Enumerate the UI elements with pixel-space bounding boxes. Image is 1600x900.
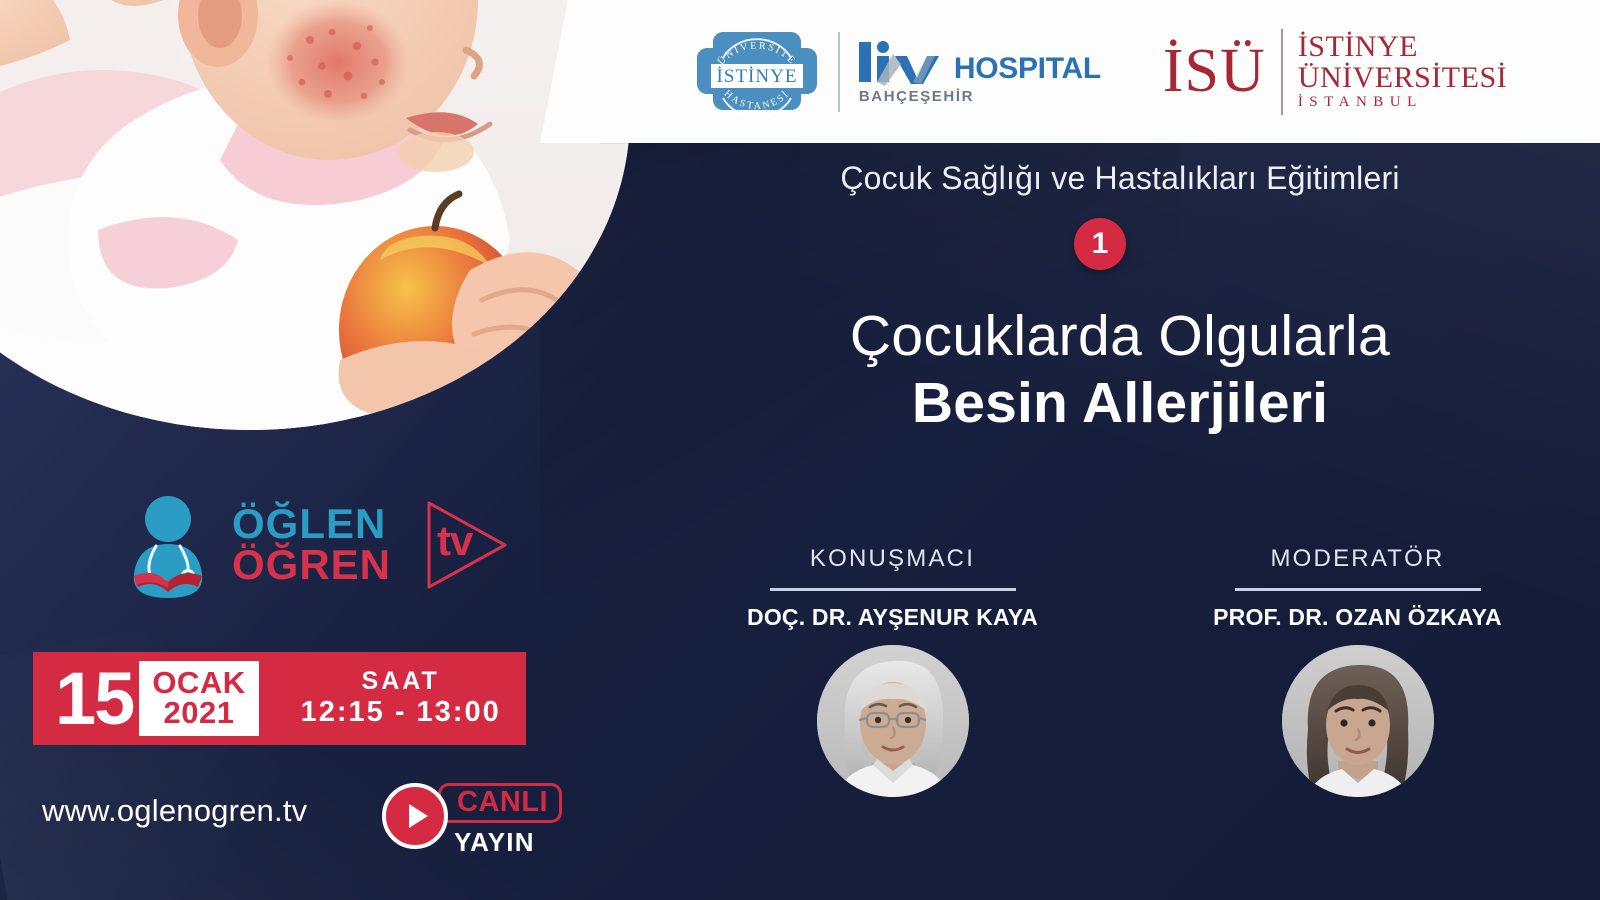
participant-name: PROF. DR. OZAN ÖZKAYA <box>1213 604 1502 631</box>
event-time: SAAT 12:15 - 13:00 <box>301 668 501 729</box>
liv-hospital-word: HOSPITAL <box>954 54 1101 84</box>
title-line-1: Çocuklarda Olgularla <box>640 305 1600 369</box>
website-url[interactable]: www.oglenogren.tv <box>42 793 307 829</box>
live-sublabel: YAYIN <box>454 827 562 858</box>
moderator-portrait-icon <box>1282 645 1434 797</box>
isu-line1: İSTİNYE <box>1298 32 1507 63</box>
liv-wordmark-icon <box>855 38 951 86</box>
participant-role: KONUŞMACI <box>810 545 975 573</box>
participant-rule <box>1235 588 1481 591</box>
doctor-reading-book-icon <box>118 492 218 598</box>
live-broadcast-badge[interactable]: CANLI YAYIN <box>382 783 562 858</box>
isu-line2: ÜNİVERSİTESİ <box>1298 63 1507 94</box>
title-line-2: Besin Allerjileri <box>640 369 1600 437</box>
event-month-year: OCAK 2021 <box>139 661 258 736</box>
participant-role: MODERATÖR <box>1270 545 1444 573</box>
baby-with-apple-illustration <box>0 0 630 430</box>
participant-speaker: KONUŞMACI DOÇ. DR. AYŞENUR KAYA <box>660 545 1125 797</box>
participants: KONUŞMACI DOÇ. DR. AYŞENUR KAYA <box>660 545 1590 797</box>
time-range: 12:15 - 13:00 <box>301 696 501 729</box>
brand-line-1: ÖĞLEN <box>232 504 391 545</box>
event-year: 2021 <box>152 697 245 728</box>
event-month: OCAK <box>152 668 245 697</box>
svg-text:İSTİNYE: İSTİNYE <box>716 66 797 87</box>
avatar <box>1282 645 1434 797</box>
isu-divider <box>1281 29 1283 115</box>
participant-rule <box>770 588 1016 591</box>
speaker-portrait-icon <box>817 645 969 797</box>
play-icon[interactable] <box>382 783 448 849</box>
date-time-bar: 15 OCAK 2021 SAAT 12:15 - 13:00 <box>33 652 526 745</box>
liv-hospital-branch: BAHÇEŞEHİR <box>859 88 1101 105</box>
istinye-hastanesi-logo: İSTİNYE ÜNİVERSİTE HASTANESİ <box>693 20 1101 123</box>
isu-monogram: İSÜ <box>1163 44 1266 100</box>
partner-logos: İSTİNYE ÜNİVERSİTE HASTANESİ <box>600 0 1600 143</box>
page-title: Çocuklarda Olgularla Besin Allerjileri <box>640 305 1600 437</box>
participant-name: DOÇ. DR. AYŞENUR KAYA <box>747 604 1038 631</box>
hero-photo <box>0 0 630 430</box>
event-day: 15 <box>55 667 133 731</box>
istinye-universitesi-logo: İSÜ İSTİNYE ÜNİVERSİTESİ İSTANBUL <box>1163 29 1507 115</box>
series-number-badge: 1 <box>1074 218 1126 270</box>
participant-moderator: MODERATÖR PROF. DR. OZAN ÖZKAYA <box>1125 545 1590 797</box>
webinar-poster: İSTİNYE ÜNİVERSİTE HASTANESİ <box>0 0 1600 900</box>
brand-line-2: ÖĞREN <box>232 545 391 586</box>
avatar <box>817 645 969 797</box>
liv-hospital-logo: HOSPITAL BAHÇEŞEHİR <box>855 38 1101 105</box>
tv-label: tv <box>437 517 472 565</box>
isu-line3: İSTANBUL <box>1298 95 1507 110</box>
oglen-ogren-tv-logo[interactable]: ÖĞLEN ÖĞREN tv <box>118 492 513 598</box>
series-title: Çocuk Sağlığı ve Hastalıkları Eğitimleri <box>640 160 1600 197</box>
tv-play-badge: tv <box>411 495 513 595</box>
logo-divider <box>838 32 840 112</box>
time-label: SAAT <box>301 668 501 696</box>
istinye-hastanesi-seal-icon: İSTİNYE ÜNİVERSİTE HASTANESİ <box>693 20 821 123</box>
live-label: CANLI <box>438 783 562 823</box>
